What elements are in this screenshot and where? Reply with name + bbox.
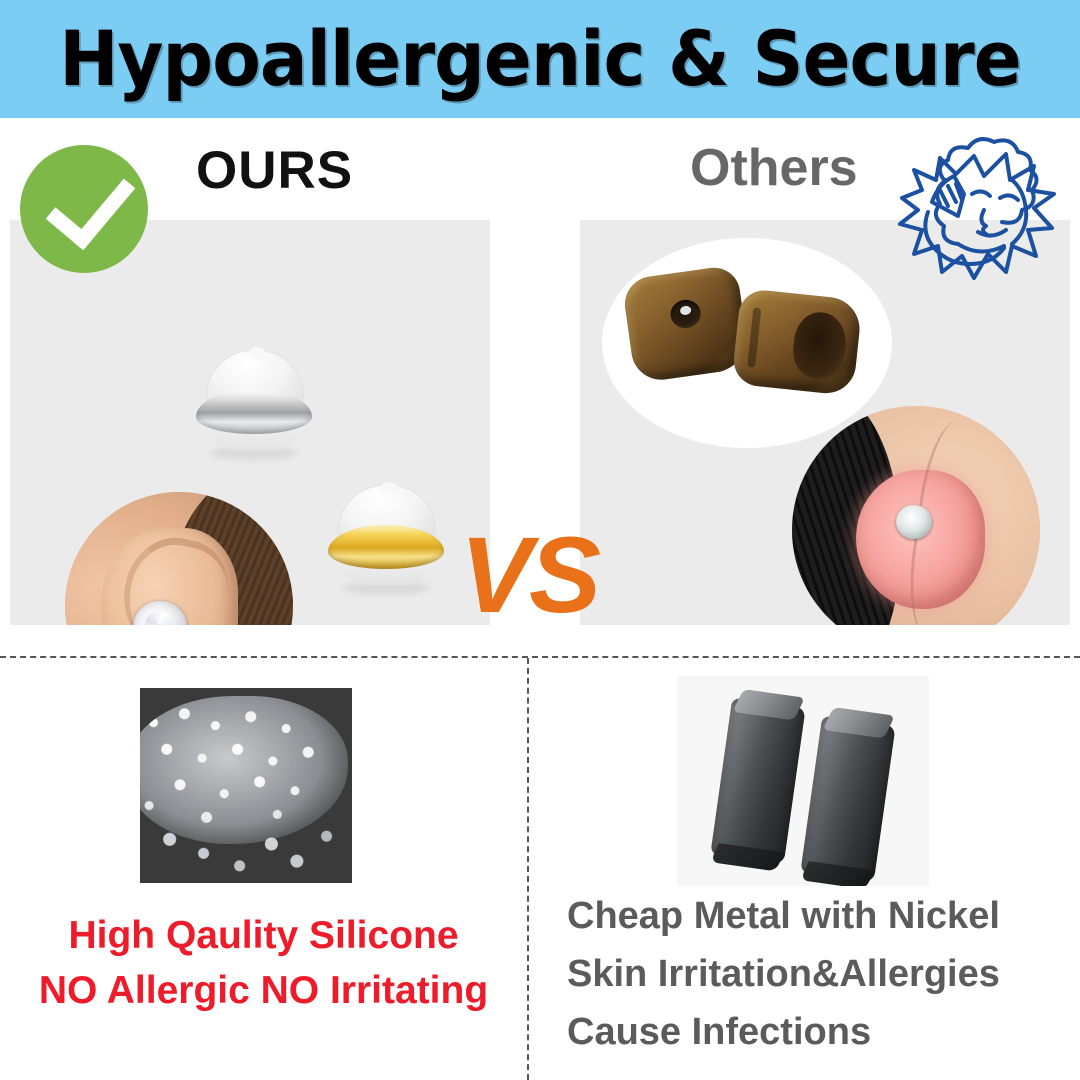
bottom-left-section: High Qaulity Silicone NO Allergic NO Irr… xyxy=(0,658,527,1080)
silicone-caption: High Qaulity Silicone NO Allergic NO Irr… xyxy=(0,908,527,1019)
ours-label: OURS xyxy=(196,140,353,201)
page-title: Hypoallergenic & Secure xyxy=(59,21,1021,97)
metal-bars-photo xyxy=(677,676,929,886)
ours-panel xyxy=(10,220,490,625)
check-tick xyxy=(46,157,136,251)
metal-caption-line-2: Skin Irritation&Allergies xyxy=(567,946,1080,1004)
metal-caption-line-1: Cheap Metal with Nickel xyxy=(567,888,1080,946)
vs-label: VS xyxy=(460,521,598,629)
header-banner: Hypoallergenic & Secure xyxy=(0,0,1080,118)
bottom-right-section: Cheap Metal with Nickel Skin Irritation&… xyxy=(529,658,1080,1080)
silver-earring-back-image xyxy=(196,350,312,454)
corroded-back-right xyxy=(731,288,862,396)
silver-back-metal-band xyxy=(196,390,312,434)
irritated-ear-photo xyxy=(792,406,1040,625)
gold-earring-back-image xyxy=(328,485,444,589)
silicone-caption-line-1: High Qaulity Silicone xyxy=(0,908,527,963)
silicone-caption-line-2: NO Allergic NO Irritating xyxy=(0,963,527,1018)
metal-bar-left xyxy=(710,698,805,865)
metal-caption: Cheap Metal with Nickel Skin Irritation&… xyxy=(567,888,1080,1061)
comparison-section: OURS Others VS xyxy=(0,118,1080,655)
beads-scatter xyxy=(140,805,352,883)
ours-product-images xyxy=(10,220,490,625)
healthy-ear-photo xyxy=(65,492,293,625)
others-label: Others xyxy=(690,138,858,198)
headache-person-icon xyxy=(888,136,1068,291)
metal-bar-right xyxy=(800,716,895,883)
corroded-back-left xyxy=(621,264,750,383)
silicone-beads-photo xyxy=(140,688,352,883)
metal-caption-line-3: Cause Infections xyxy=(567,1004,1080,1062)
green-check-circle-icon xyxy=(20,145,148,273)
gold-back-metal-band xyxy=(328,525,444,569)
